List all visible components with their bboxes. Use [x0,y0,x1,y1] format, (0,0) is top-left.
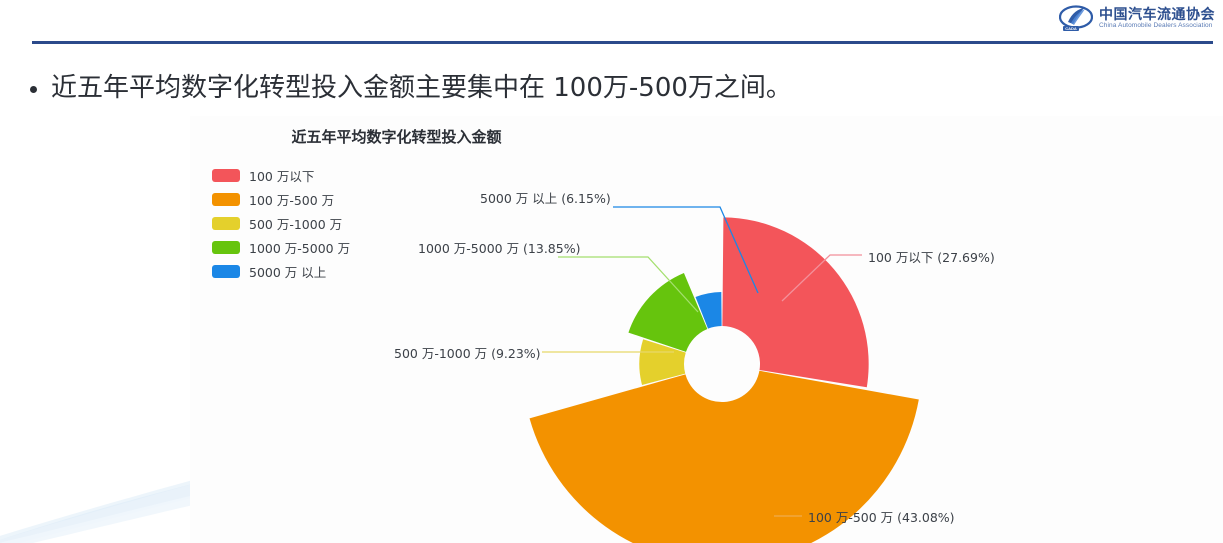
brand-text: 中国汽车流通协会 China Automobile Dealers Associ… [1099,7,1215,30]
bullet-row: 近五年平均数字化转型投入金额主要集中在 100万-500万之间。 [30,72,792,106]
cada-swoosh-logo-icon: CADA [1059,5,1093,32]
data-label-500-1000: 500 万-1000 万 (9.23%) [394,343,541,362]
slide-root: CADA 中国汽车流通协会 China Automobile Dealers A… [0,0,1223,543]
brand-name-cn: 中国汽车流通协会 [1099,7,1215,21]
pie-slice-1000-5000[interactable] [628,273,707,352]
brand-name-en: China Automobile Dealers Association [1099,23,1215,30]
bullet-marker-icon [30,86,37,93]
pie-slice-under100[interactable] [722,217,868,387]
chart-panel: 近五年平均数字化转型投入金额 100 万以下 100 万-500 万 500 万… [190,116,1223,543]
data-label-1000-5000: 1000 万-5000 万 (13.85%) [418,238,580,257]
data-label-above-5000: 5000 万 以上 (6.15%) [480,188,611,207]
data-label-under-100: 100 万以下 (27.69%) [868,247,995,266]
rose-donut-chart [190,116,1223,543]
brand-logo: CADA 中国汽车流通协会 China Automobile Dealers A… [1059,3,1215,33]
data-label-100-500: 100 万-500 万 (43.08%) [808,507,955,526]
svg-text:CADA: CADA [1065,26,1077,31]
slide-header: CADA 中国汽车流通协会 China Automobile Dealers A… [0,0,1223,46]
pie-slices [530,217,919,543]
header-divider [32,41,1213,44]
bullet-text: 近五年平均数字化转型投入金额主要集中在 100万-500万之间。 [51,72,792,106]
